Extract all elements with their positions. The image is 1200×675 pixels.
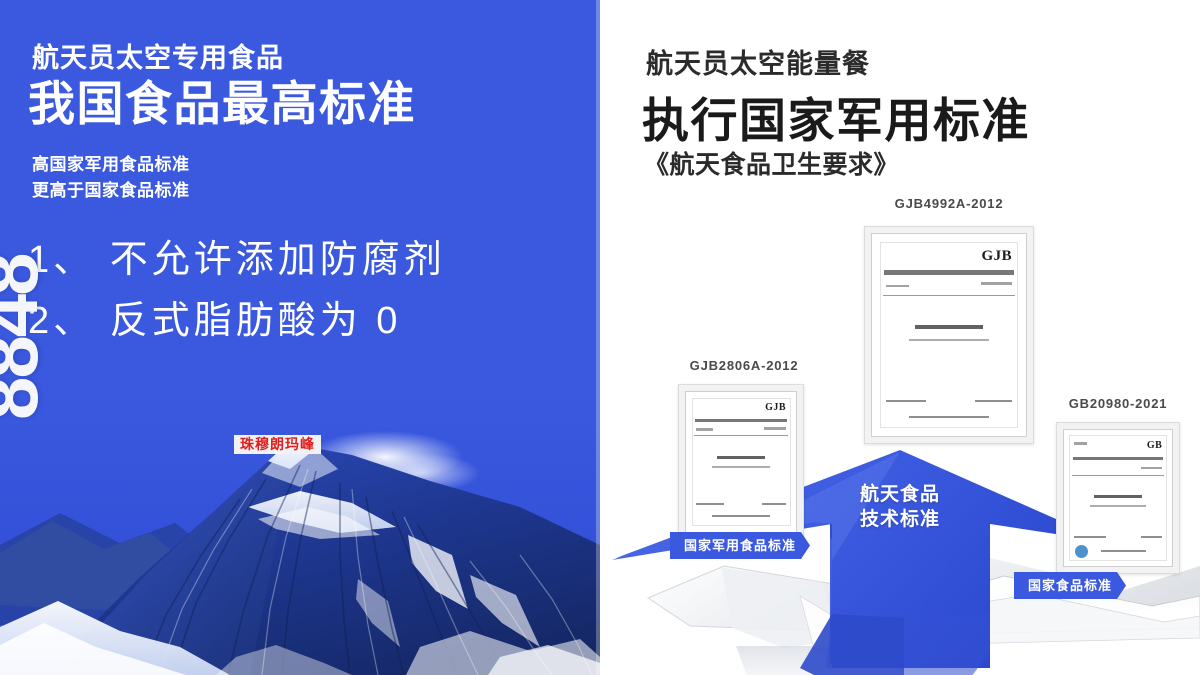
document-caption-gb20980: GB20980-2021 — [1042, 396, 1194, 411]
tag-national-food-standard[interactable]: 国家食品标准 — [1014, 572, 1126, 599]
left-subtitle-line-2: 更高于国家食品标准 — [32, 176, 190, 201]
document-subtitle-bar-gjb2806 — [712, 466, 769, 468]
arrow-label: 航天食品 技术标准 — [860, 483, 940, 532]
document-publisher-gjb2806 — [712, 515, 769, 517]
document-rule-gb20980 — [1072, 475, 1165, 476]
document-title-bar-gb20980 — [1094, 495, 1142, 498]
document-inner-border-gjb2806 — [692, 398, 791, 527]
document-title-bar-gjb4992 — [915, 325, 983, 329]
document-publisher-gjb4992 — [909, 416, 989, 418]
left-panel: 航天员太空专用食品 我国食品最高标准 高国家军用食品标准 更高于国家食品标准 1… — [0, 0, 600, 675]
document-rule-gjb2806 — [694, 435, 789, 436]
document-headline-gjb4992 — [884, 270, 1013, 275]
document-caption-gjb2806: GJB2806A-2012 — [666, 358, 822, 373]
left-subtitle-line-1: 高国家军用食品标准 — [32, 150, 190, 175]
document-foot-right-gjb2806 — [762, 503, 786, 505]
left-bullet-list: 1、 不允许添加防腐剂 2、 反式脂肪酸为 0 — [28, 230, 568, 352]
document-frame-gb20980: GB — [1056, 422, 1180, 574]
left-bullet-item-1: 1、 不允许添加防腐剂 — [28, 230, 568, 291]
right-subtitle: 《航天食品卫生要求》 — [644, 145, 899, 181]
document-card-gjb2806[interactable]: GJB2806A-2012 GJB — [666, 358, 822, 544]
document-frame-gjb4992: GJB — [864, 226, 1034, 444]
document-frame-gjb2806: GJB — [678, 384, 804, 540]
document-headline-gb20980 — [1073, 457, 1164, 460]
everest-peak-label: 珠穆朗玛峰 — [234, 435, 321, 454]
tag-military-food-standard[interactable]: 国家军用食品标准 — [670, 532, 810, 559]
document-subtitle-bar-gb20980 — [1090, 505, 1146, 507]
document-page-gb20980: GB — [1063, 429, 1173, 567]
document-foot-right-gb20980 — [1141, 536, 1163, 538]
document-page-gjb4992: GJB — [871, 233, 1027, 437]
document-rule-gjb4992 — [883, 295, 1015, 296]
right-panel: 航天员太空能量餐 执行国家军用标准 《航天食品卫生要求》 — [604, 0, 1200, 675]
document-publisher-gb20980 — [1101, 550, 1146, 552]
document-meta-left-gjb4992 — [886, 285, 909, 288]
gjb-logo-gjb2806: GJB — [765, 402, 786, 413]
document-meta-right-gb20980 — [1141, 467, 1163, 470]
slide-canvas: 航天员太空专用食品 我国食品最高标准 高国家军用食品标准 更高于国家食品标准 1… — [0, 0, 1200, 675]
right-main-title: 执行国家军用标准 — [642, 82, 1030, 151]
right-eyebrow-text: 航天员太空能量餐 — [646, 42, 870, 81]
document-page-gjb2806: GJB — [685, 391, 797, 533]
document-meta-right-gjb2806 — [764, 427, 786, 430]
document-card-gjb4992[interactable]: GJB4992A-2012 GJB — [844, 196, 1054, 450]
document-foot-right-gjb4992 — [975, 400, 1012, 403]
standard-seal-icon — [1075, 545, 1088, 558]
document-meta-right-gjb4992 — [981, 282, 1012, 285]
arrow-label-line-2: 技术标准 — [860, 508, 940, 533]
left-main-title: 我国食品最高标准 — [28, 78, 416, 131]
gjb-logo-gjb4992: GJB — [981, 248, 1012, 265]
document-foot-left-gb20980 — [1074, 536, 1106, 538]
document-foot-left-gjb4992 — [886, 400, 926, 403]
everest-height-number: 8848 — [0, 254, 48, 420]
gb-logo-gb20980: GB — [1147, 440, 1162, 451]
document-foot-left-gjb2806 — [696, 503, 725, 505]
left-eyebrow-text: 航天员太空专用食品 — [32, 36, 284, 75]
document-caption-gjb4992: GJB4992A-2012 — [844, 196, 1054, 211]
document-topcode-gb20980 — [1074, 442, 1087, 445]
document-headline-gjb2806 — [695, 419, 787, 422]
arrow-label-line-1: 航天食品 — [860, 483, 940, 508]
left-bullet-item-2: 2、 反式脂肪酸为 0 — [28, 291, 568, 352]
document-title-bar-gjb2806 — [717, 456, 765, 459]
document-card-gb20980[interactable]: GB20980-2021 GB — [1042, 396, 1194, 580]
document-meta-left-gjb2806 — [696, 428, 714, 431]
document-subtitle-bar-gjb4992 — [909, 339, 989, 341]
